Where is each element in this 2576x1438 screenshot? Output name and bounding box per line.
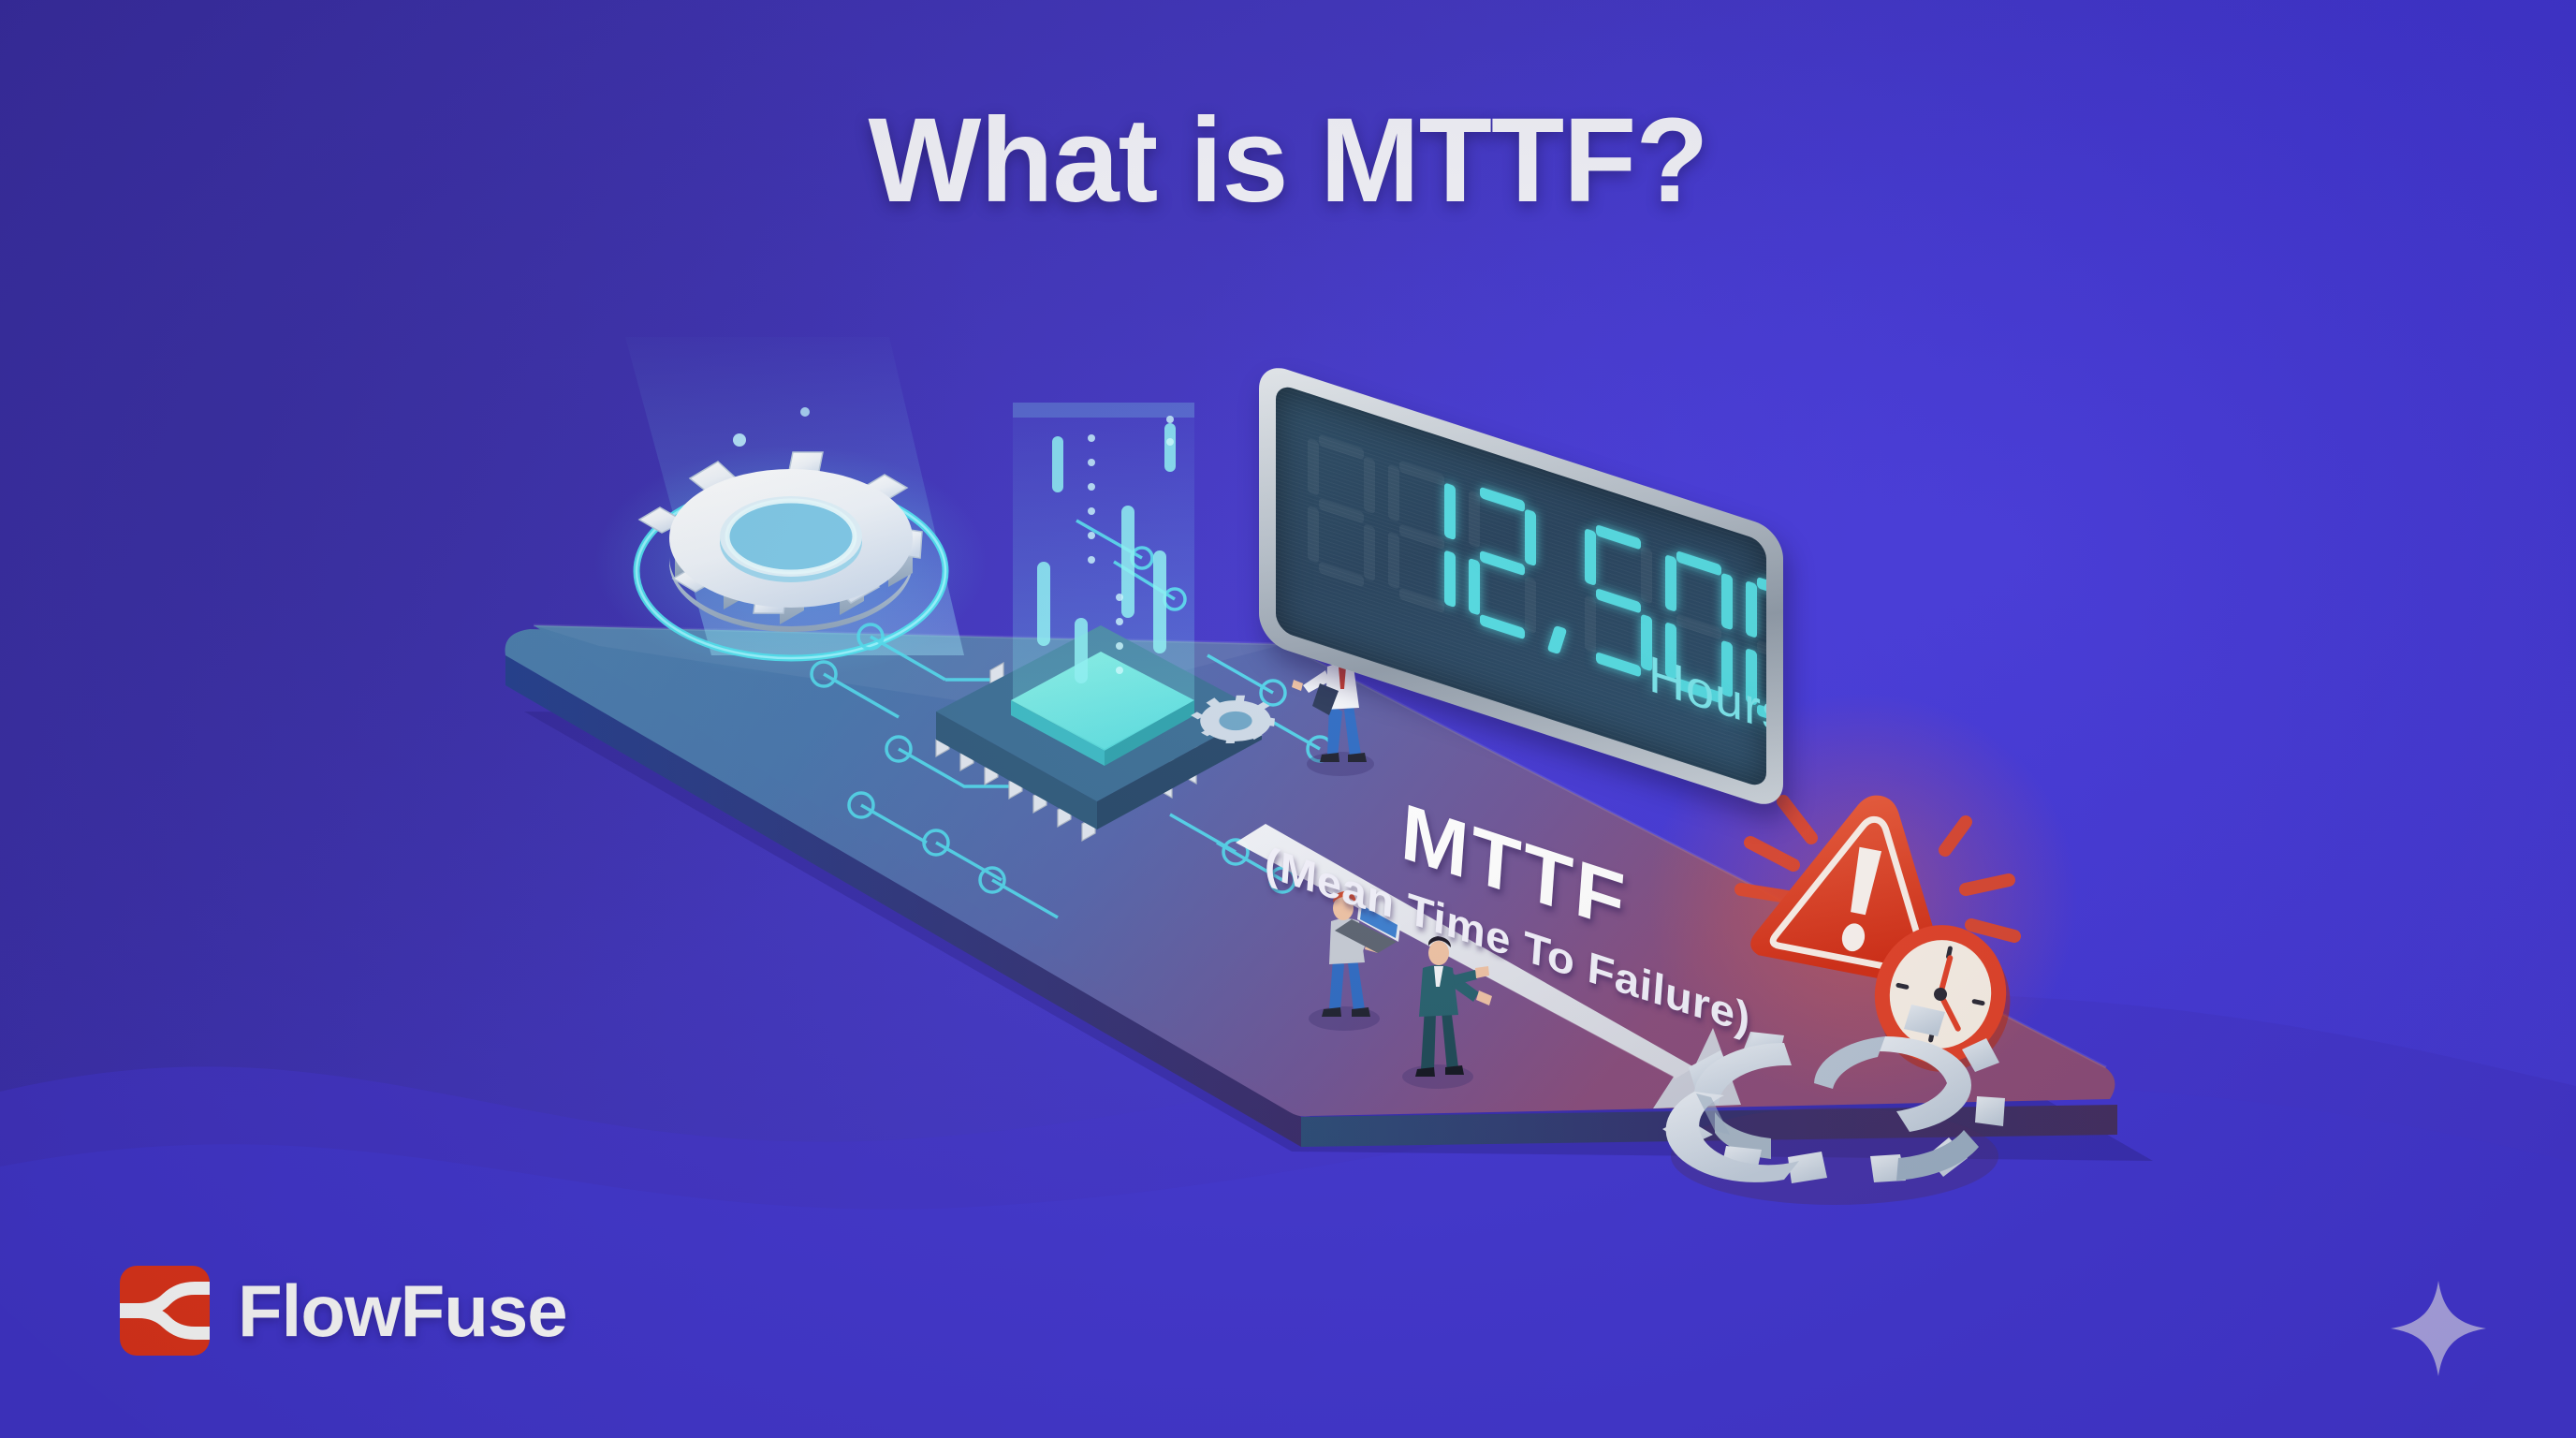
- data-hologram-icon: [1013, 403, 1194, 749]
- illustration-canvas: Hours MTTF (Mean Time To Failure) What i…: [0, 0, 2576, 1438]
- four-point-star-icon: [2387, 1277, 2490, 1380]
- led-comma: [1549, 509, 1572, 655]
- flowfuse-fork-icon: [120, 1266, 210, 1356]
- brand-name: FlowFuse: [238, 1274, 567, 1347]
- led-digit-5: [1585, 521, 1652, 681]
- page-title: What is MTTF?: [0, 101, 2576, 221]
- brand-logo[interactable]: FlowFuse: [120, 1266, 567, 1356]
- led-digit-2: [1469, 483, 1536, 643]
- led-digit-ghost: [1308, 431, 1375, 591]
- led-digit-1: [1388, 457, 1456, 617]
